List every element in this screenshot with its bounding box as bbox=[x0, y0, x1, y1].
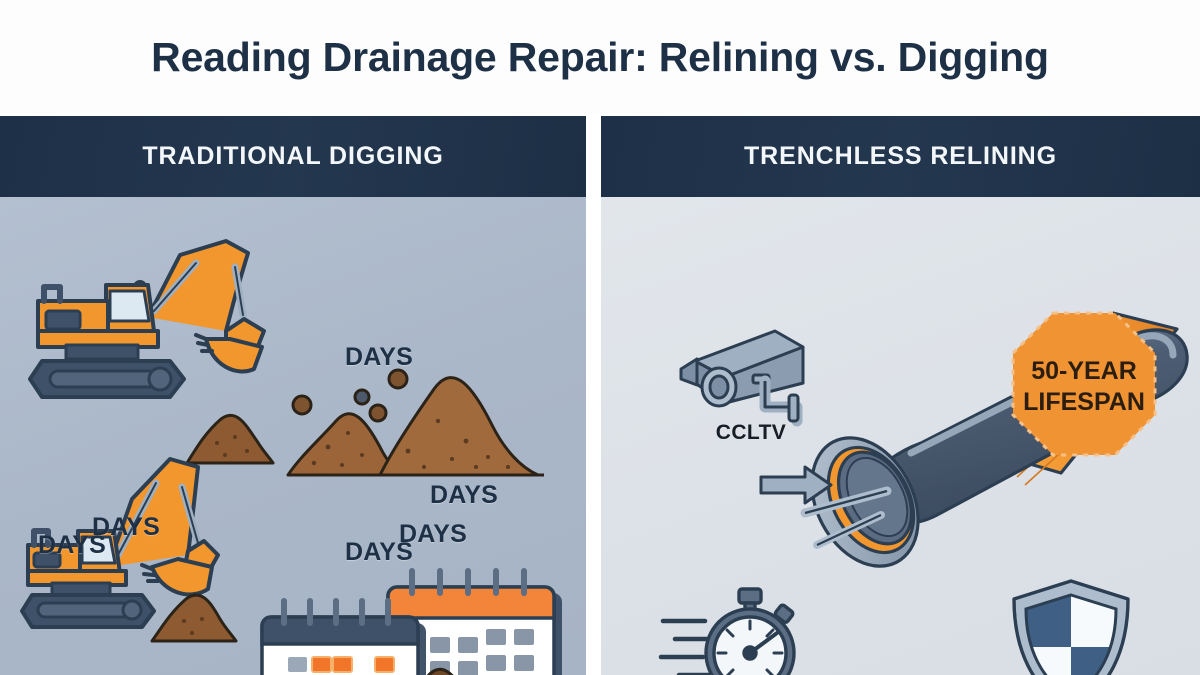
excavator-icon-1 bbox=[30, 219, 300, 409]
stopwatch-icon bbox=[661, 587, 831, 675]
days-label-4: DAYS bbox=[38, 531, 106, 560]
poster-title-bar: Reading Drainage Repair: Relining vs. Di… bbox=[0, 0, 1200, 114]
panel-body-trenchless: CCLTV bbox=[601, 197, 1200, 675]
panel-header-label-traditional: TRADITIONAL DIGGING bbox=[142, 142, 443, 171]
lifespan-badge: 50-YEAR LIFESPAN bbox=[1009, 309, 1159, 459]
panel-header-label-trenchless: TRENCHLESS RELINING bbox=[744, 142, 1057, 171]
panel-traditional-digging: TRADITIONAL DIGGING bbox=[0, 116, 586, 675]
days-label-1: DAYS bbox=[345, 343, 413, 372]
dirt-pile-4 bbox=[384, 649, 494, 675]
dirt-pile-2 bbox=[288, 355, 548, 481]
page-title: Reading Drainage Repair: Relining vs. Di… bbox=[151, 34, 1049, 81]
badge-line2-text: LIFESPAN bbox=[1023, 388, 1145, 416]
panel-trenchless-relining: TRENCHLESS RELINING bbox=[601, 116, 1200, 675]
badge-line1-text: 50-YEAR bbox=[1031, 357, 1137, 385]
panel-header-traditional: TRADITIONAL DIGGING bbox=[0, 116, 586, 197]
days-label-2: DAYS bbox=[430, 481, 498, 510]
dirt-pile-3 bbox=[150, 587, 238, 645]
panel-header-trenchless: TRENCHLESS RELINING bbox=[601, 116, 1200, 197]
infographic-poster: Reading Drainage Repair: Relining vs. Di… bbox=[0, 0, 1200, 675]
panel-body-traditional: DAYS DAYS DAYS DAYS DAYS DAYS bbox=[0, 197, 586, 675]
days-label-6: DAYS bbox=[345, 538, 413, 567]
shield-icon bbox=[1006, 577, 1136, 675]
